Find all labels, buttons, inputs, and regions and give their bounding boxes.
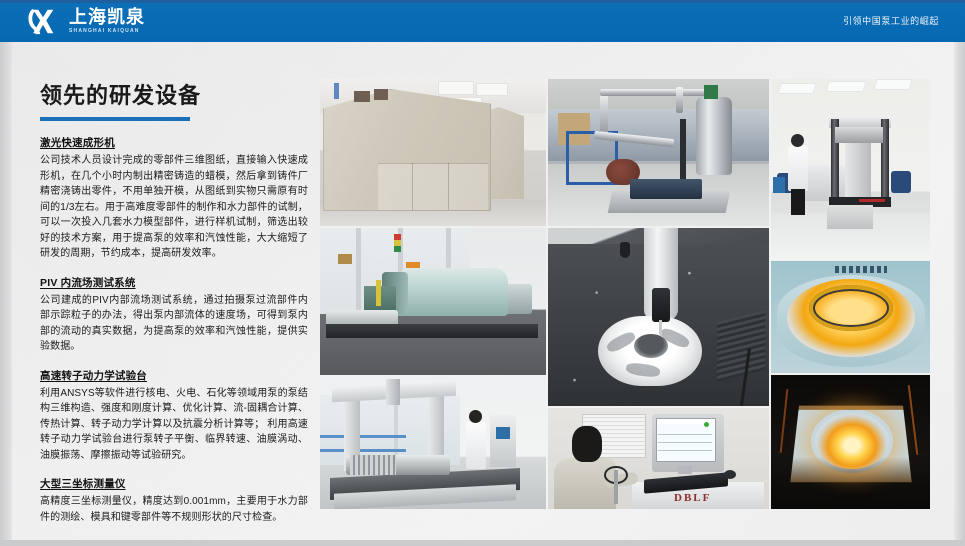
equipment-photo-grid: 激光快速成形机机房 PIV 内流场测试台架 [320,79,930,509]
photo-piv-test-rig[interactable]: PIV 内流场测试台架 [548,79,769,226]
slide-canvas: 领先的研发设备 激光快速成形机 公司技术人员设计完成的零部件三维图纸，直接输入快… [12,42,954,540]
section-cmm: 大型三坐标测量仪 高精度三坐标测量仪，精度达到0.001mm，主要用于水力部件的… [40,476,308,525]
brand-logo[interactable]: 上海凯泉 SHANGHAI KAIQUAN [24,6,145,36]
slide-page: 上海凯泉 SHANGHAI KAIQUAN 引领中国泵工业的崛起 领先的研发设备… [0,0,965,546]
header-slogan: 引领中国泵工业的崛起 [843,14,939,27]
photo-caption: 高速转子动力学试验台 [324,363,384,372]
photo-rotor-dynamics-test-bed[interactable]: 高速转子动力学试验台 [320,228,546,375]
header-top-rule [0,0,965,3]
section-heading: PIV 内流场测试系统 [40,275,308,290]
section-piv-flow-field: PIV 内流场测试系统 公司建成的PIV内部流场测试系统，通过拍摄泵过流部件内部… [40,275,308,355]
logo-chinese-name: 上海凯泉 [69,8,145,26]
section-laser-rapid-prototyping: 激光快速成形机 公司技术人员设计完成的零部件三维图纸，直接输入快速成形机，在几个… [40,135,308,262]
page-left-edge [0,42,12,546]
content-text-column: 领先的研发设备 激光快速成形机 公司技术人员设计完成的零部件三维图纸，直接输入快… [40,78,308,538]
site-header: 上海凯泉 SHANGHAI KAIQUAN 引领中国泵工业的崛起 [0,0,965,42]
spectrometer-brand-label: DBLF [674,492,711,504]
photo-caption: 三坐标测量仪扫描叶轮 [552,394,612,403]
logo-english-name: SHANGHAI KAIQUAN [69,29,145,34]
photo-casting-mold-ring[interactable]: 精密铸造模环 [771,261,930,373]
section-rotor-dynamics: 高速转子动力学试验台 利用ANSYS等软件进行核电、火电、石化等领域用泵的泵结构… [40,368,308,464]
section-body: 公司建成的PIV内部流场测试系统，通过拍摄泵过流部件内部示踪粒子的办法，得出泵内… [40,293,308,355]
page-title: 领先的研发设备 [40,78,308,110]
section-heading: 大型三坐标测量仪 [40,476,308,491]
photo-caption: 三坐标测量仪检测轴类零件 [324,497,396,506]
photo-universal-testing-machine[interactable]: 万能材料试验机与技术员 [771,79,930,259]
title-underline-rule [40,117,190,121]
photo-spectrometer-operator[interactable]: DBLF 光谱仪操作台 [548,408,769,509]
photo-furnace-glow[interactable]: 熔炼炉观察窗 [771,375,930,509]
photo-caption: 光谱仪操作台 [552,497,588,506]
photo-caption: 精密铸造模环 [775,361,811,370]
section-body: 利用ANSYS等软件进行核电、火电、石化等领域用泵的泵结构三维构造、强度和刚度计… [40,386,308,464]
page-right-edge [954,42,965,546]
photo-cmm-impeller-scan[interactable]: 三坐标测量仪扫描叶轮 [548,228,769,406]
page-bottom-edge [0,540,965,546]
photo-rapid-prototyping-machine[interactable]: 激光快速成形机机房 [320,79,546,226]
photo-caption: 激光快速成形机机房 [324,214,378,223]
section-body: 公司技术人员设计完成的零部件三维图纸，直接输入快速成形机，在几个小时内制出精密铸… [40,153,308,262]
photo-caption: 熔炼炉观察窗 [775,497,811,506]
photo-cmm-shaft-inspection[interactable]: 三坐标测量仪检测轴类零件 [320,377,546,509]
kaiquan-logo-icon [24,6,62,36]
photo-caption: PIV 内流场测试台架 [552,214,605,223]
section-body: 高精度三坐标测量仪，精度达到0.001mm，主要用于水力部件的测绘、模具和键零部… [40,494,308,525]
section-heading: 高速转子动力学试验台 [40,368,308,383]
section-heading: 激光快速成形机 [40,135,308,150]
photo-caption: 万能材料试验机与技术员 [775,247,841,256]
